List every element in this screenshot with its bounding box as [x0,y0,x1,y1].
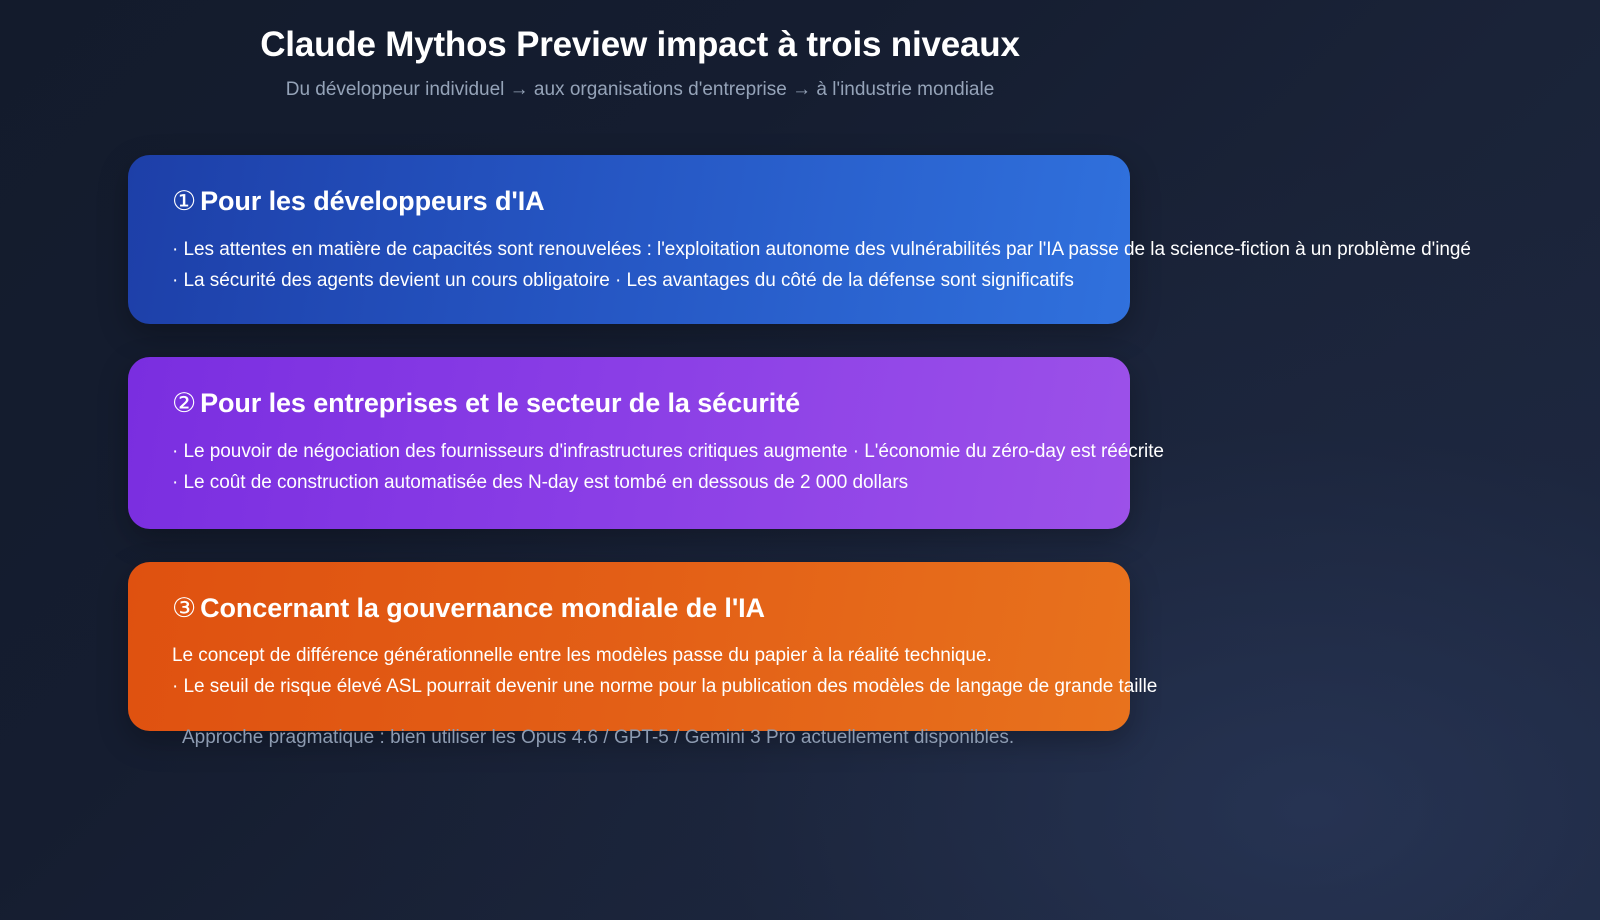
card-body: Le concept de différence générationnelle… [172,641,1086,703]
card-marker-icon: ③ [172,593,196,623]
impact-card-enterprise-security[interactable]: ②Pour les entreprises et le secteur de l… [128,357,1130,528]
card-line: · La sécurité des agents devient un cour… [172,266,1086,297]
card-line: · Le pouvoir de négociation des fourniss… [172,437,1086,468]
footer-note: Approche pragmatique : bien utiliser les… [182,726,1014,751]
slide-canvas: Claude Mythos Preview impact à trois niv… [0,0,1600,920]
card-marker-icon: ① [172,186,196,216]
card-line: · Le seuil de risque élevé ASL pourrait … [172,672,1086,703]
impact-card-list: ①Pour les développeurs d'IA · Les attent… [128,155,1130,764]
card-heading: ①Pour les développeurs d'IA [172,185,1086,219]
card-line: · Le coût de construction automatisée de… [172,468,1086,499]
card-heading-label: Concernant la gouvernance mondiale de l'… [200,593,765,623]
card-heading: ②Pour les entreprises et le secteur de l… [172,387,1086,421]
card-line: · Les attentes en matière de capacités s… [172,235,1086,266]
card-marker-icon: ② [172,388,196,418]
impact-card-developers[interactable]: ①Pour les développeurs d'IA · Les attent… [128,155,1130,324]
card-body: · Le pouvoir de négociation des fourniss… [172,437,1086,499]
page-subtitle: Du développeur individuel → aux organisa… [0,78,1280,103]
page-title: Claude Mythos Preview impact à trois niv… [0,24,1280,66]
card-heading: ③Concernant la gouvernance mondiale de l… [172,592,1086,626]
card-heading-label: Pour les développeurs d'IA [200,186,544,216]
card-line: Le concept de différence générationnelle… [172,641,1086,672]
card-body: · Les attentes en matière de capacités s… [172,235,1086,297]
impact-card-global-governance[interactable]: ③Concernant la gouvernance mondiale de l… [128,562,1130,731]
slide-header: Claude Mythos Preview impact à trois niv… [0,24,1280,103]
card-heading-label: Pour les entreprises et le secteur de la… [200,388,800,418]
